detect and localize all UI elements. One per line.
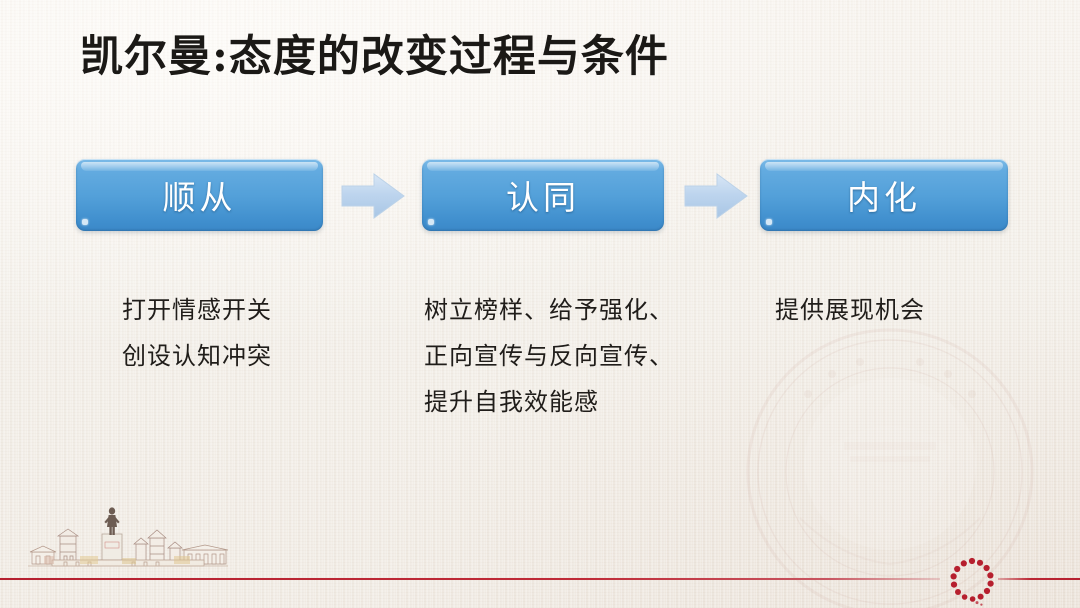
description-line: 提供展现机会 <box>775 288 925 334</box>
description-line: 打开情感开关 <box>122 288 272 334</box>
campus-skyline-illustration <box>24 498 232 578</box>
dotted-ring-logo <box>946 556 998 608</box>
stage-label-internalization: 内化 <box>847 171 921 219</box>
footer-rule-right <box>998 578 1080 580</box>
description-line: 创设认知冲突 <box>122 334 272 380</box>
process-flow: 顺从 认同 <box>0 159 1080 235</box>
stage-label-identification: 认同 <box>506 171 580 219</box>
page-title: 凯尔曼:态度的改变过程与条件 <box>80 22 669 84</box>
arrow-right-icon <box>683 171 749 221</box>
arrow-right-icon <box>340 171 406 221</box>
stage-box-internalization[interactable]: 内化 <box>760 159 1008 231</box>
description-line: 树立榜样、给予强化、 <box>424 288 674 334</box>
slide-canvas: 凯尔曼:态度的改变过程与条件 顺从 认同 <box>0 0 1080 608</box>
description-column-identification: 树立榜样、给予强化、 正向宣传与反向宣传、 提升自我效能感 <box>424 288 674 426</box>
description-column-compliance: 打开情感开关 创设认知冲突 <box>122 288 272 380</box>
description-line: 提升自我效能感 <box>424 380 674 426</box>
stage-label-compliance: 顺从 <box>163 171 237 219</box>
description-column-internalization: 提供展现机会 <box>775 288 925 334</box>
stage-box-compliance[interactable]: 顺从 <box>76 159 323 231</box>
footer-rule-left <box>0 578 940 580</box>
description-line: 正向宣传与反向宣传、 <box>424 334 674 380</box>
stage-box-identification[interactable]: 认同 <box>422 159 664 231</box>
